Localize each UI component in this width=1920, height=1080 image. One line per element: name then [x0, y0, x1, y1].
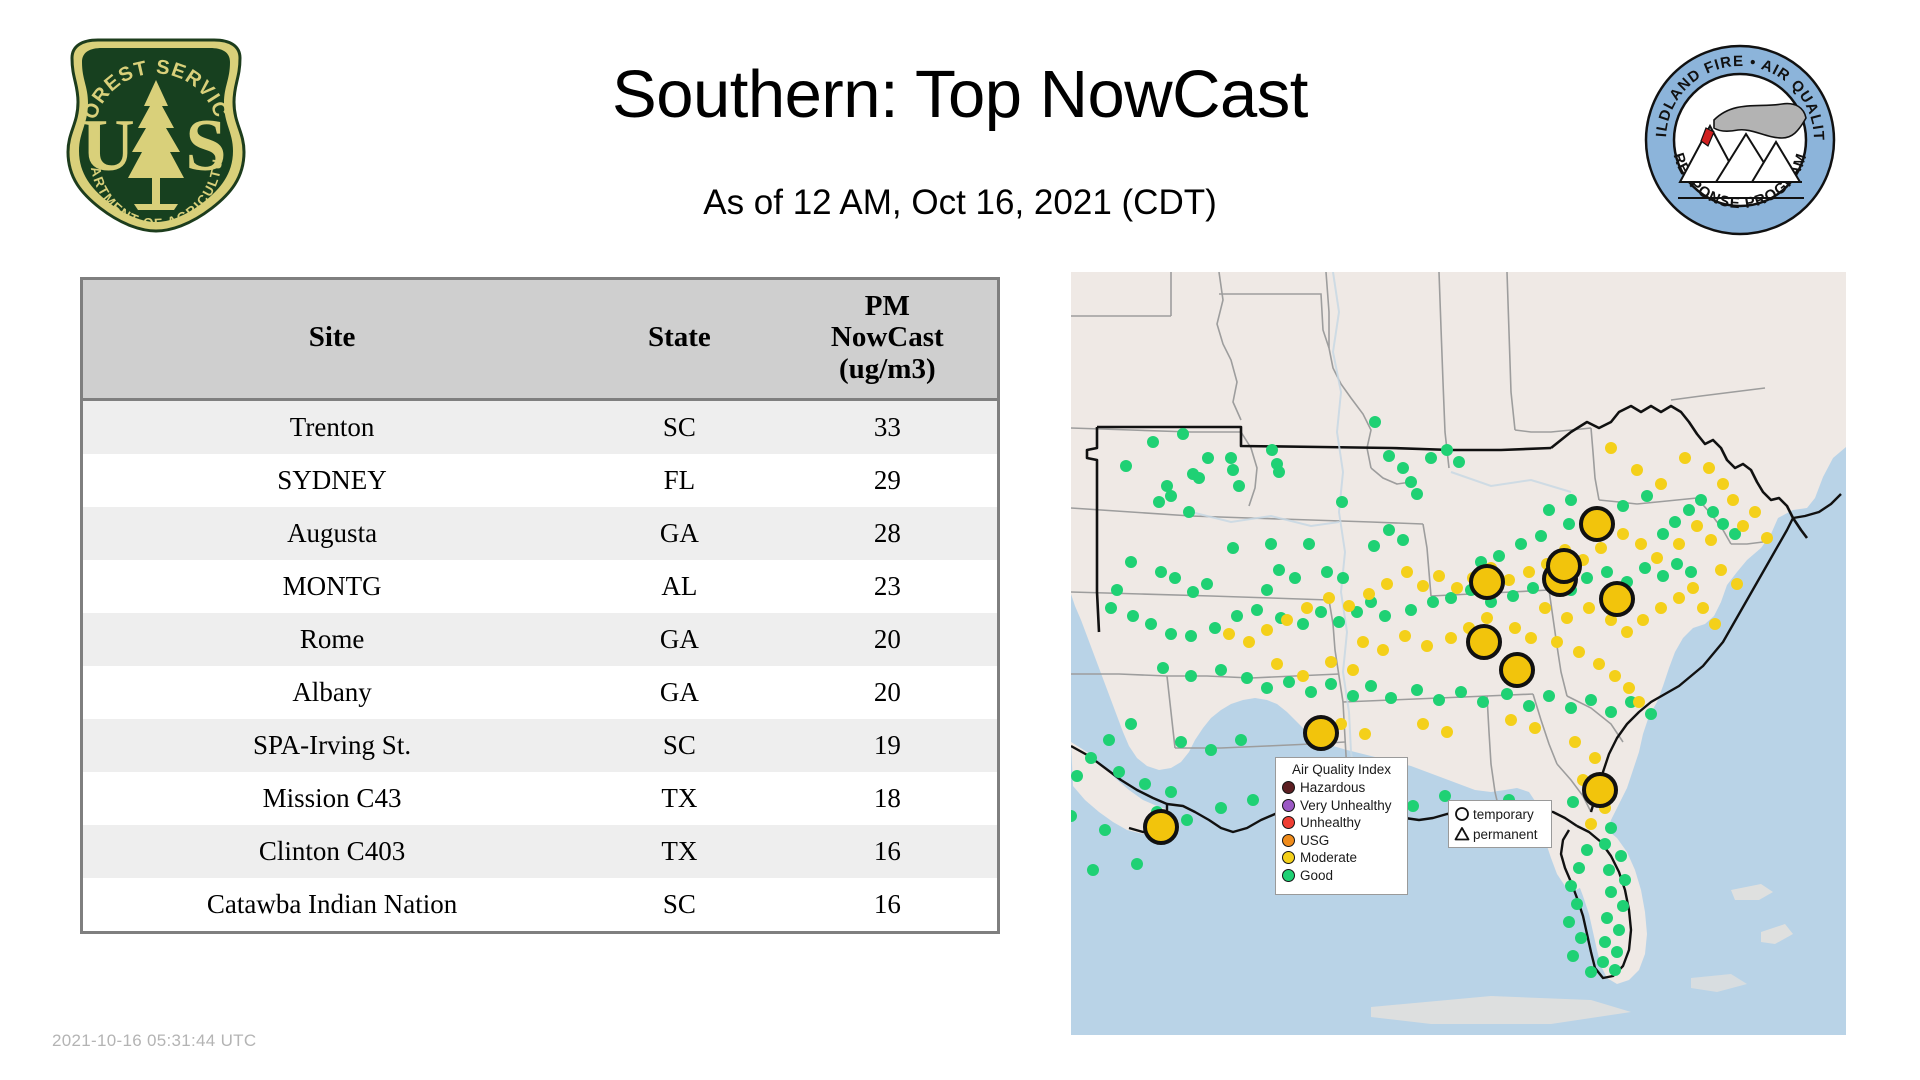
aqi-legend-label: Moderate: [1300, 850, 1357, 865]
aqi-legend-row: Very Unhealthy: [1282, 797, 1401, 815]
table-row: AlbanyGA20: [83, 666, 997, 719]
top-site-marker-rome: [1471, 566, 1503, 598]
table-row: TrentonSC33: [83, 400, 997, 455]
table-header: Site State PM NowCast (ug/m3): [83, 280, 997, 400]
table-row: AugustaGA28: [83, 507, 997, 560]
timestamp-footer: 2021-10-16 05:31:44 UTC: [52, 1031, 256, 1051]
aqi-legend-row: Hazardous: [1282, 779, 1401, 797]
permanent-monitor-triangle-icon: [1454, 826, 1470, 842]
aqi-legend-label: Unhealthy: [1300, 815, 1361, 830]
aqi-legend-rows: HazardousVery UnhealthyUnhealthyUSGModer…: [1282, 779, 1401, 884]
aqi-legend-label: Hazardous: [1300, 780, 1365, 795]
cell-site: MONTG: [83, 560, 581, 613]
top-site-marker-trenton: [1581, 508, 1613, 540]
aqi-legend-label: USG: [1300, 833, 1329, 848]
page-title: Southern: Top NowCast: [330, 60, 1590, 130]
top-site-marker-montg: [1468, 626, 1500, 658]
cell-pm-nowcast: 16: [778, 878, 997, 931]
cell-pm-nowcast: 19: [778, 719, 997, 772]
column-header-pm-line3: (ug/m3): [782, 354, 993, 385]
cell-state: SC: [581, 719, 778, 772]
table-row: Clinton C403TX16: [83, 825, 997, 878]
cell-state: GA: [581, 613, 778, 666]
table-row: Mission C43TX18: [83, 772, 997, 825]
table-row: Catawba Indian NationSC16: [83, 878, 997, 931]
aqi-legend-swatch-icon: [1282, 781, 1295, 794]
cell-pm-nowcast: 20: [778, 666, 997, 719]
cell-pm-nowcast: 18: [778, 772, 997, 825]
table-header-row: Site State PM NowCast (ug/m3): [83, 280, 997, 400]
aqi-legend-title: Air Quality Index: [1282, 762, 1401, 777]
table-row: SYDNEYFL29: [83, 454, 997, 507]
nowcast-table-container: Site State PM NowCast (ug/m3) TrentonSC3…: [80, 277, 1000, 934]
monitor-legend-label-permanent: permanent: [1473, 827, 1538, 842]
cell-site: Catawba Indian Nation: [83, 878, 581, 931]
cell-state: GA: [581, 507, 778, 560]
column-header-state: State: [581, 280, 778, 400]
column-header-pm-nowcast: PM NowCast (ug/m3): [778, 280, 997, 400]
aqi-legend-swatch-icon: [1282, 851, 1295, 864]
cell-site: Trenton: [83, 400, 581, 455]
cell-state: TX: [581, 772, 778, 825]
aqi-legend-row: USG: [1282, 832, 1401, 850]
cell-site: SPA-Irving St.: [83, 719, 581, 772]
temporary-monitor-circle-icon: [1454, 806, 1470, 822]
monitor-legend-label-temporary: temporary: [1473, 807, 1534, 822]
page-subtitle: As of 12 AM, Oct 16, 2021 (CDT): [330, 183, 1590, 223]
aqi-legend-swatch-icon: [1282, 799, 1295, 812]
top-site-marker-sydney: [1584, 774, 1616, 806]
fs-letter-u: U: [81, 105, 134, 187]
monitor-legend-row-permanent: permanent: [1454, 824, 1546, 844]
cell-site: SYDNEY: [83, 454, 581, 507]
cell-state: SC: [581, 878, 778, 931]
table-row: RomeGA20: [83, 613, 997, 666]
top-site-marker-mission-c43: [1145, 811, 1177, 843]
top-site-marker-catawba-indian-nation: [1548, 550, 1580, 582]
fs-letter-s: S: [185, 105, 226, 187]
cell-site: Mission C43: [83, 772, 581, 825]
cell-pm-nowcast: 28: [778, 507, 997, 560]
cell-state: GA: [581, 666, 778, 719]
aqi-legend-label: Very Unhealthy: [1300, 798, 1392, 813]
aqi-legend-label: Good: [1300, 868, 1333, 883]
aqi-monitor-map[interactable]: [1071, 272, 1846, 1035]
table-row: SPA-Irving St.SC19: [83, 719, 997, 772]
usda-forest-service-shield-logo: FOREST SERVICE DEPARTMENT OF AGRICULTURE…: [58, 28, 254, 238]
monitor-legend-row-temporary: temporary: [1454, 804, 1546, 824]
cell-site: Rome: [83, 613, 581, 666]
cell-pm-nowcast: 16: [778, 825, 997, 878]
aqi-legend-row: Moderate: [1282, 849, 1401, 867]
cell-site: Clinton C403: [83, 825, 581, 878]
cell-pm-nowcast: 29: [778, 454, 997, 507]
aqi-legend-row: Unhealthy: [1282, 814, 1401, 832]
nowcast-table: Site State PM NowCast (ug/m3) TrentonSC3…: [83, 280, 997, 931]
cell-state: FL: [581, 454, 778, 507]
aqi-legend-swatch-icon: [1282, 869, 1295, 882]
monitor-type-legend: temporary permanent: [1448, 800, 1552, 848]
cell-site: Albany: [83, 666, 581, 719]
aqi-legend-swatch-icon: [1282, 816, 1295, 829]
cell-pm-nowcast: 33: [778, 400, 997, 455]
cell-pm-nowcast: 23: [778, 560, 997, 613]
cell-pm-nowcast: 20: [778, 613, 997, 666]
cell-site: Augusta: [83, 507, 581, 560]
cell-state: SC: [581, 400, 778, 455]
aqi-legend-swatch-icon: [1282, 834, 1295, 847]
aqi-legend: Air Quality Index HazardousVery Unhealth…: [1275, 757, 1408, 895]
top-site-marker-clinton-c403: [1305, 717, 1337, 749]
table-body: TrentonSC33SYDNEYFL29AugustaGA28MONTGAL2…: [83, 400, 997, 932]
cell-state: TX: [581, 825, 778, 878]
column-header-site: Site: [83, 280, 581, 400]
table-row: MONTGAL23: [83, 560, 997, 613]
cell-state: AL: [581, 560, 778, 613]
column-header-pm-line2: NowCast: [782, 322, 993, 353]
wildland-fire-air-quality-response-program-logo: WILDLAND FIRE • AIR QUALITY RESPONSE PRO…: [1642, 42, 1838, 238]
aqi-legend-row: Good: [1282, 867, 1401, 885]
top-site-marker-albany: [1501, 654, 1533, 686]
top-site-marker-augusta: [1601, 583, 1633, 615]
column-header-pm-line1: PM: [782, 291, 993, 322]
